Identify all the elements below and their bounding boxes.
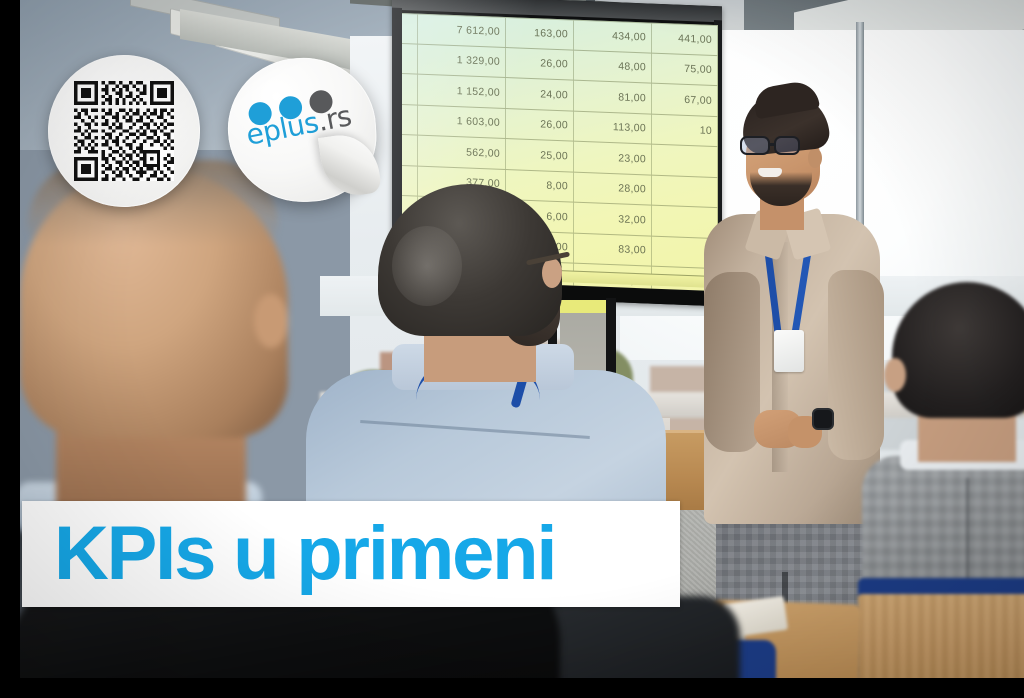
spreadsheet-cell	[402, 14, 418, 43]
presenter-wristwatch	[812, 408, 834, 430]
spreadsheet-cell: 23,00	[574, 142, 652, 174]
page-title: KPIs u primeni	[22, 516, 555, 592]
spreadsheet-cell	[402, 74, 418, 104]
spreadsheet-cell: 113,00	[574, 111, 652, 143]
frame-left-black-bar	[0, 0, 20, 698]
spreadsheet-cell: 25,00	[506, 139, 574, 171]
spreadsheet-cell: 434,00	[574, 21, 652, 52]
spreadsheet-cell: 75,00	[652, 53, 718, 85]
spreadsheet-cell	[402, 135, 418, 165]
slide-canvas: 7 612,00163,00434,00441,001 329,0026,004…	[0, 0, 1024, 698]
frame-bottom-black-bar	[0, 678, 1024, 698]
spreadsheet-cell: 24,00	[506, 78, 574, 110]
spreadsheet-cell: 163,00	[506, 18, 574, 49]
qr-code-icon	[74, 81, 174, 181]
spreadsheet-cell: 26,00	[506, 109, 574, 141]
spreadsheet-cell: 1 603,00	[418, 105, 506, 138]
qr-code-sticker[interactable]	[48, 55, 200, 207]
spreadsheet-cell: 81,00	[574, 81, 652, 113]
spreadsheet-cell: 26,00	[506, 48, 574, 80]
presenter-badge	[774, 330, 804, 372]
spreadsheet-cell: 1 329,00	[418, 44, 506, 77]
spreadsheet-cell	[402, 105, 418, 135]
spreadsheet-cell: 562,00	[418, 136, 506, 169]
attendee-right	[882, 282, 1024, 678]
spreadsheet-cell: 48,00	[574, 50, 652, 82]
logo-word-suffix: .rs	[315, 99, 354, 138]
title-banner: KPIs u primeni	[22, 501, 680, 607]
presenter-glasses	[740, 136, 818, 156]
eplus-logo-sticker[interactable]: eplus.rs	[228, 58, 376, 202]
spreadsheet-cell	[402, 44, 418, 74]
attendee-right-head	[892, 282, 1024, 418]
spreadsheet-cell: 441,00	[652, 24, 718, 55]
spreadsheet-cell: 7 612,00	[418, 15, 506, 47]
chair-back	[858, 594, 1024, 678]
spreadsheet-cell: 1 152,00	[418, 75, 506, 108]
